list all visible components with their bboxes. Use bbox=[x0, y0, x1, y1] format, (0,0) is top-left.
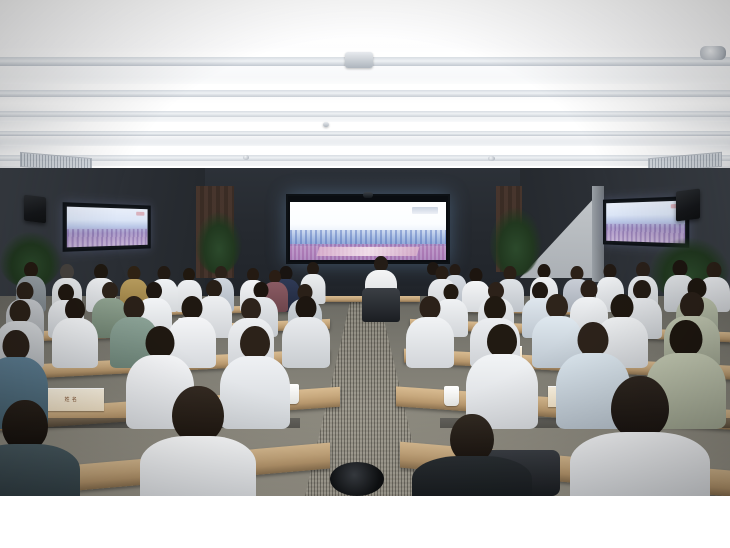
attendee-head bbox=[2, 400, 48, 450]
ceiling-rail bbox=[0, 155, 730, 161]
attendee-head bbox=[241, 298, 261, 320]
ceiling-rail bbox=[0, 111, 730, 117]
attendee-head bbox=[546, 294, 568, 318]
attendee-head bbox=[24, 262, 38, 277]
cityscape-river bbox=[317, 247, 420, 256]
main-screen-content bbox=[290, 202, 446, 260]
attendee-torso bbox=[52, 318, 98, 368]
attendee-head bbox=[146, 326, 175, 358]
ceiling-light-strip bbox=[0, 146, 730, 155]
attendee-head bbox=[578, 322, 609, 356]
ceiling-sensor bbox=[345, 52, 373, 68]
attendee bbox=[140, 386, 256, 496]
tea-cup bbox=[444, 386, 459, 406]
attendee-head bbox=[420, 296, 441, 319]
attendee-head bbox=[60, 264, 74, 279]
attendee-head bbox=[124, 296, 145, 319]
attendee-head bbox=[487, 324, 517, 357]
attendee-head bbox=[581, 280, 598, 298]
attendee-head bbox=[450, 414, 494, 462]
ceiling-light-strip bbox=[0, 122, 730, 131]
left-screen-content bbox=[67, 207, 148, 248]
attendee-head bbox=[484, 296, 506, 320]
screenshot-root: 姓 名 bbox=[0, 0, 730, 548]
attendee-head bbox=[670, 320, 703, 356]
attendee-torso bbox=[0, 444, 80, 496]
attendee-head bbox=[10, 300, 31, 323]
attendee bbox=[406, 296, 454, 366]
office-chair bbox=[362, 288, 400, 322]
office-chair bbox=[330, 462, 384, 496]
ceiling-rail bbox=[0, 131, 730, 136]
attendee-head bbox=[538, 264, 551, 278]
attendee-head bbox=[470, 268, 483, 282]
attendee-head bbox=[65, 298, 85, 320]
attendee-torso bbox=[570, 432, 710, 496]
ceiling-speaker bbox=[488, 156, 495, 161]
left-wall-speaker bbox=[24, 195, 46, 224]
attendee-torso bbox=[412, 456, 532, 496]
attendee-head bbox=[707, 262, 722, 278]
conference-room-photo: 姓 名 bbox=[0, 0, 730, 496]
attendee-head bbox=[604, 264, 617, 278]
attendee-head bbox=[254, 282, 269, 298]
right-screen-content bbox=[606, 201, 685, 244]
attendee-head bbox=[17, 282, 34, 300]
attendee bbox=[52, 298, 98, 366]
video-conference-camera bbox=[363, 192, 373, 198]
attendee-head bbox=[128, 266, 141, 280]
attendee-head bbox=[296, 296, 317, 319]
attendee-head bbox=[611, 376, 669, 438]
attendee-head bbox=[636, 262, 650, 277]
attendee-head bbox=[182, 296, 203, 319]
attendee-head bbox=[158, 266, 171, 280]
screen-logo-icon bbox=[412, 207, 438, 214]
attendee-torso bbox=[406, 317, 454, 368]
attendee-head bbox=[94, 264, 108, 279]
caption-whitespace bbox=[0, 496, 730, 548]
right-wall-speaker bbox=[676, 189, 700, 222]
ceiling-rail bbox=[0, 90, 730, 97]
attendee bbox=[412, 414, 532, 496]
main-led-wall[interactable] bbox=[286, 194, 450, 264]
attendee-head bbox=[436, 266, 449, 280]
attendee-head bbox=[680, 292, 704, 318]
screen-logo-icon bbox=[136, 212, 144, 216]
attendee-head bbox=[3, 330, 30, 360]
attendee-head bbox=[374, 256, 388, 271]
attendee-torso bbox=[140, 436, 256, 496]
ceiling-speaker bbox=[700, 46, 726, 60]
left-side-display[interactable] bbox=[63, 202, 151, 252]
ceiling-sensor bbox=[323, 122, 329, 127]
attendee bbox=[570, 376, 710, 496]
ceiling-light-strip bbox=[0, 104, 730, 111]
attendee-head bbox=[571, 266, 584, 280]
attendee bbox=[466, 324, 538, 426]
attendee-head bbox=[673, 260, 688, 276]
attendee-head bbox=[172, 386, 224, 442]
attendee-head bbox=[240, 326, 270, 359]
attendee-head bbox=[504, 266, 517, 280]
attendee bbox=[0, 400, 80, 496]
attendee-head bbox=[206, 280, 222, 297]
attendee-head bbox=[611, 294, 634, 319]
ceiling-speaker bbox=[243, 155, 249, 160]
